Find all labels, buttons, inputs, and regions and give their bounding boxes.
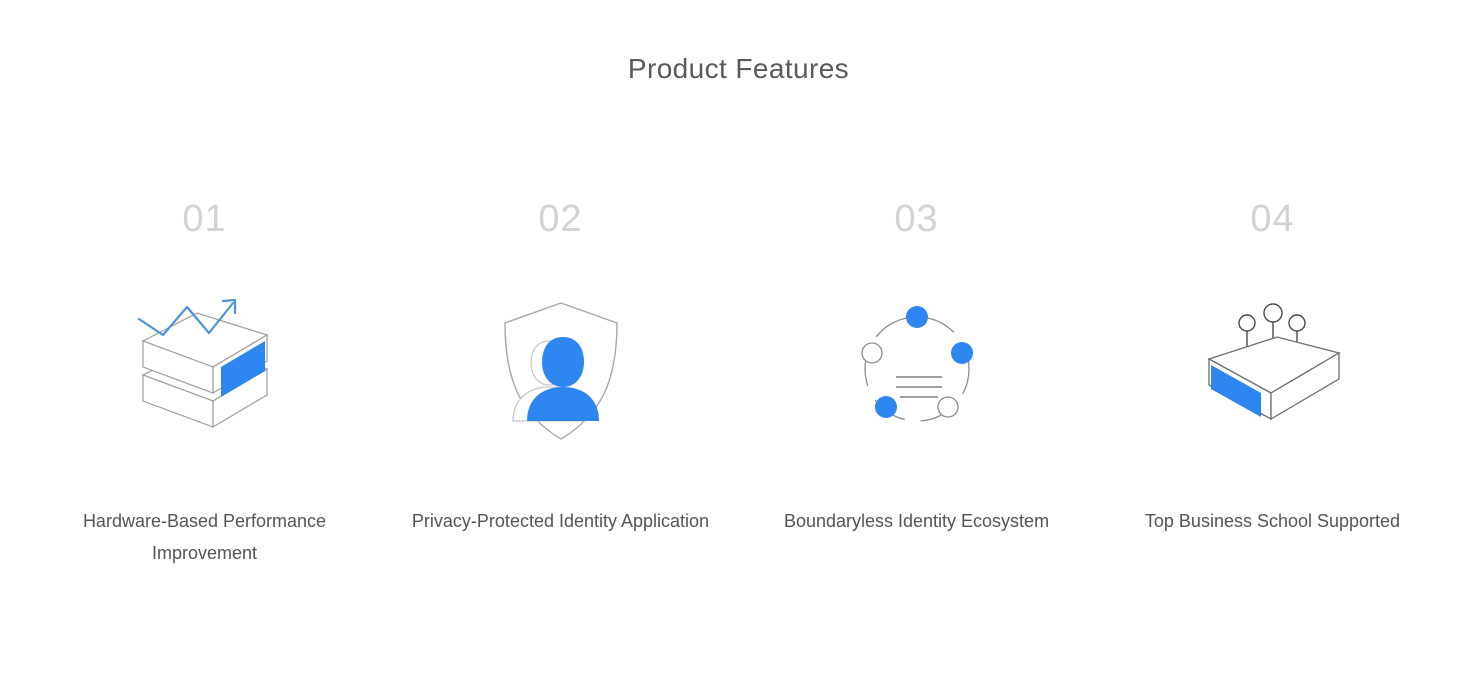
network-ring-icon — [832, 297, 1002, 447]
feature-label: Hardware-Based Performance Improvement — [40, 505, 370, 569]
page-title: Product Features — [0, 50, 1477, 88]
feature-label: Boundaryless Identity Ecosystem — [752, 505, 1082, 537]
product-features-page: Product Features 01 — [0, 0, 1477, 695]
feature-card-04[interactable]: 04 — [1095, 195, 1451, 537]
shield-person-icon — [476, 297, 646, 447]
feature-number: 03 — [894, 195, 938, 251]
feature-card-02[interactable]: 02 Privacy-Protected Identity Applicatio… — [383, 195, 739, 537]
feature-label: Top Business School Supported — [1108, 505, 1438, 537]
platform-pins-icon — [1188, 297, 1358, 447]
feature-number: 04 — [1250, 195, 1294, 251]
feature-number: 01 — [182, 195, 226, 251]
feature-label: Privacy-Protected Identity Application — [396, 505, 726, 537]
feature-card-01[interactable]: 01 Hardware-Based P — [27, 195, 383, 569]
features-row: 01 Hardware-Based P — [0, 195, 1477, 569]
feature-card-03[interactable]: 03 Boundaryless Identity Ecosy — [739, 195, 1095, 537]
feature-number: 02 — [538, 195, 582, 251]
layered-box-growth-icon — [120, 297, 290, 447]
